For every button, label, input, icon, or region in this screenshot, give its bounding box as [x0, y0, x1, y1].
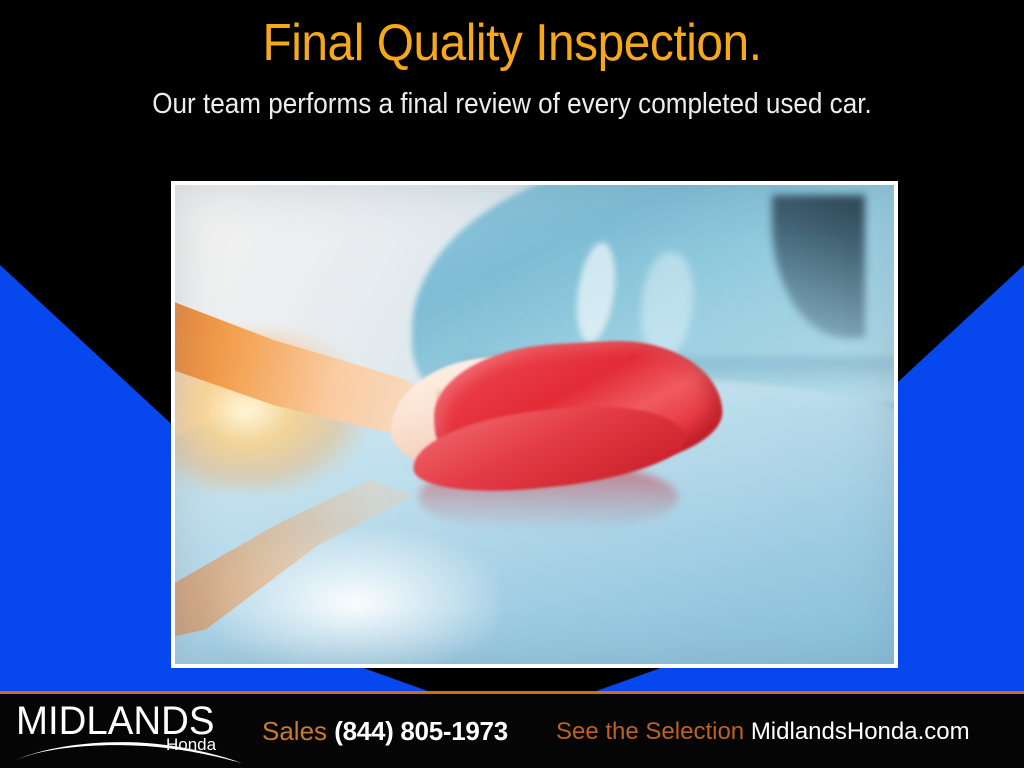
ad-banner: Final Quality Inspection. Our team perfo… — [0, 0, 1024, 768]
sales-contact[interactable]: Sales (844) 805-1973 — [262, 715, 508, 747]
hero-photo-frame — [171, 181, 898, 668]
selection-cta[interactable]: See the Selection MidlandsHonda.com — [556, 716, 970, 748]
hero-photo — [175, 185, 894, 664]
sales-phone-number[interactable]: (844) 805-1973 — [334, 716, 508, 746]
blue-accent-shape-left — [0, 255, 180, 691]
see-the-selection-label: See the Selection — [556, 718, 744, 745]
page-title: Final Quality Inspection. — [41, 12, 983, 74]
dealer-logo[interactable]: MIDLANDS Honda — [14, 700, 254, 764]
page-subtitle: Our team performs a final review of ever… — [51, 86, 973, 122]
website-url[interactable]: MidlandsHonda.com — [751, 718, 970, 745]
sales-label: Sales — [262, 716, 327, 746]
footer-bar: MIDLANDS Honda Sales (844) 805-1973 See … — [0, 694, 1024, 768]
logo-swoosh-icon — [14, 740, 246, 766]
